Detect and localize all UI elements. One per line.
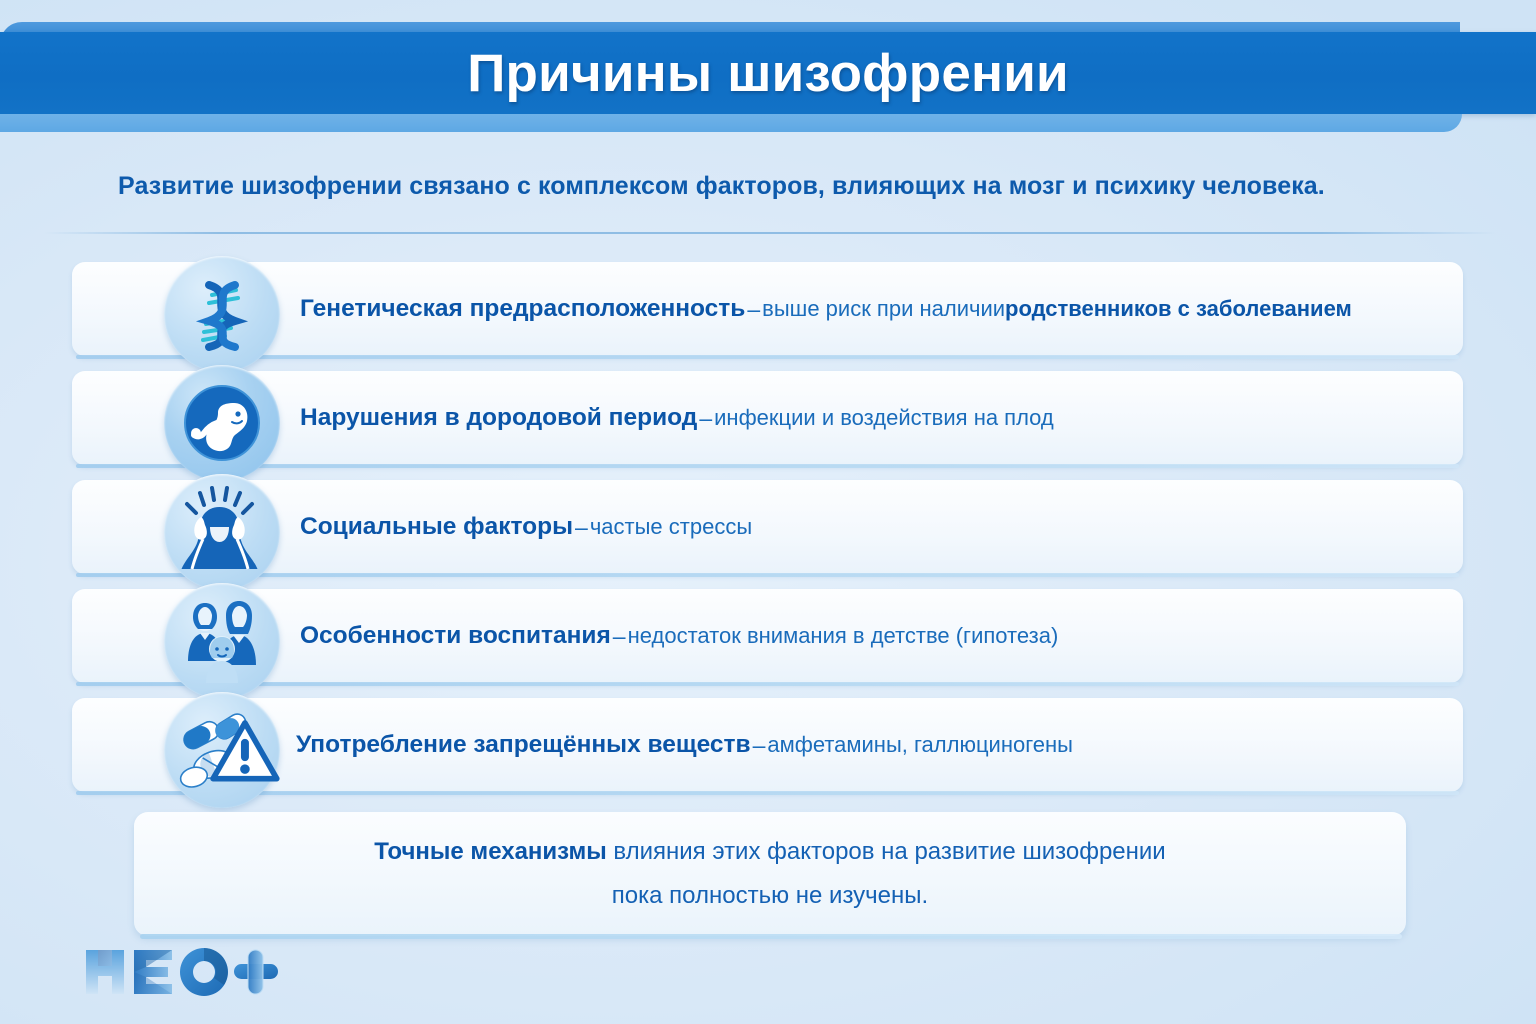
factor-text: Генетическая предрасположенность – выше … [300, 262, 1352, 356]
page-title: Причины шизофрении [0, 32, 1536, 114]
family-icon [164, 583, 280, 699]
card-underline [76, 573, 1459, 577]
stressed-person-icon [164, 474, 280, 590]
list-item[interactable]: Нарушения в дородовой период – инфекции … [0, 371, 1536, 475]
list-item[interactable]: Генетическая предрасположенность – выше … [0, 262, 1536, 366]
factor-card [72, 480, 1463, 574]
factor-dash: – [745, 296, 762, 323]
neo-plus-logo [82, 944, 282, 1000]
infographic-canvas: Причины шизофрении Развитие шизофрении с… [0, 0, 1536, 1024]
note-emphasis: Точные механизмы [374, 838, 606, 865]
header-bottom-accent-strip [0, 114, 1462, 132]
dna-icon [164, 256, 280, 372]
list-item[interactable]: Употребление запрещённых веществ – амфет… [0, 698, 1536, 802]
factor-title: Особенности воспитания [300, 622, 611, 650]
note-line-1-rest: влияния этих факторов на развитие шизофр… [607, 838, 1166, 865]
factor-dash: – [573, 514, 590, 541]
note-line-1: Точные механизмы влияния этих факторов н… [374, 830, 1165, 874]
note-line-2: пока полностью не изучены. [612, 874, 928, 918]
factor-title: Генетическая предрасположенность [300, 295, 745, 323]
factor-description: инфекции и воздействия на плод [714, 405, 1054, 431]
factor-text: Нарушения в дородовой период – инфекции … [300, 371, 1054, 465]
factor-dash: – [697, 405, 714, 432]
list-item[interactable]: Социальные факторы – частые стрессы [0, 480, 1536, 584]
factors-list: Генетическая предрасположенность – выше … [0, 262, 1536, 807]
factor-description: недостаток внимания в детстве (гипотеза) [628, 623, 1059, 649]
list-item[interactable]: Особенности воспитания – недостаток вним… [0, 589, 1536, 693]
fetus-icon [164, 365, 280, 481]
factor-text: Особенности воспитания – недостаток вним… [300, 589, 1058, 683]
pills-warning-icon [164, 692, 280, 808]
factor-description: выше риск при наличии [762, 296, 1005, 322]
factor-description: частые стрессы [590, 514, 752, 540]
factor-dash: – [751, 732, 768, 759]
factor-text: Употребление запрещённых веществ – амфет… [296, 698, 1073, 792]
intro-divider [44, 232, 1496, 234]
factor-text: Социальные факторы – частые стрессы [300, 480, 752, 574]
factor-description: амфетамины, галлюциногены [767, 732, 1073, 758]
factor-emphasis: родственников с заболеванием [1005, 296, 1352, 322]
note-underline [140, 934, 1402, 939]
factor-dash: – [611, 623, 628, 650]
header: Причины шизофрении [0, 0, 1536, 146]
intro-text: Развитие шизофрении связано с комплексом… [118, 172, 1418, 201]
factor-title: Нарушения в дородовой период [300, 404, 697, 432]
factor-title: Социальные факторы [300, 513, 573, 541]
factor-title: Употребление запрещённых веществ [296, 731, 751, 759]
conclusion-note: Точные механизмы влияния этих факторов н… [134, 812, 1406, 936]
